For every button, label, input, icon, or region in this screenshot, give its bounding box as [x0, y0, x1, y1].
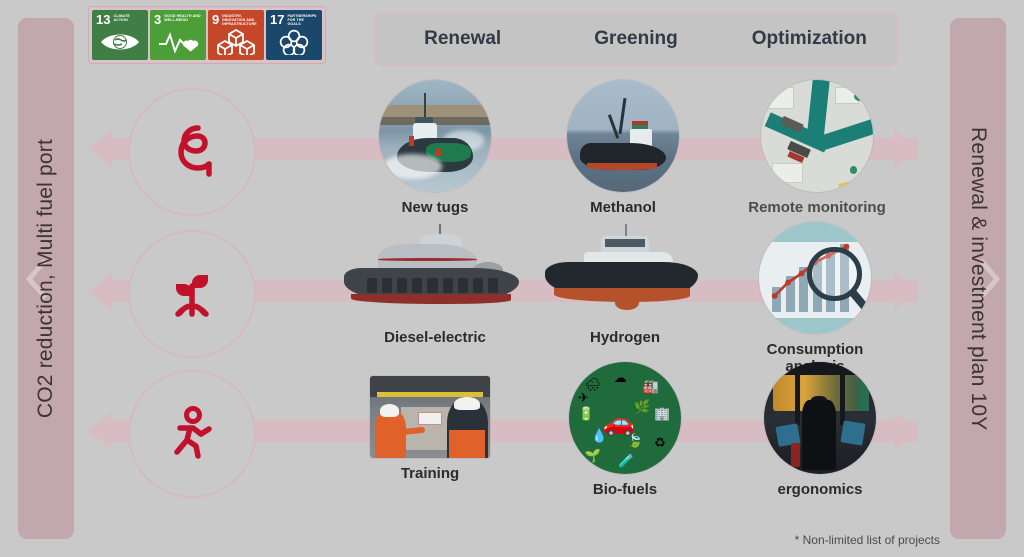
sdg-number: 17 [270, 14, 284, 26]
eye-globe-icon [96, 26, 144, 60]
arrow-head-right-icon [894, 272, 918, 310]
sdg-number: 3 [154, 14, 161, 26]
tugboat-at-sea-photo [379, 80, 491, 192]
sprout-plant-icon [163, 266, 221, 322]
item-label: Remote monitoring [722, 199, 912, 216]
item-remote-monitoring[interactable]: Remote monitoring [722, 80, 912, 216]
dark-tugboat-photo [567, 80, 679, 192]
tab-optimization[interactable]: Optimization [723, 28, 896, 50]
cabin-ergonomics-photo [764, 362, 876, 474]
item-bio-fuels[interactable]: 🌧 ☁ 🏭 🔋 🏢 🌿 💧 🍃 ♻ 🌱 🧪 ✈ 🚗 Bio-fuels [530, 362, 720, 498]
chart-magnifier-icon [759, 222, 871, 334]
item-new-tugs[interactable]: New tugs [340, 80, 530, 216]
sdg-number: 9 [212, 14, 219, 26]
slide-canvas: CO2 reduction, Multi fuel port Renewal &… [0, 0, 1024, 557]
category-icon-circle-3 [128, 370, 256, 498]
swirl-spiral-icon [165, 122, 219, 182]
item-label: Methanol [528, 199, 718, 216]
item-ergonomics[interactable]: ergonomics [725, 362, 915, 498]
footnote: * Non-limited list of projects [795, 533, 940, 547]
item-hydrogen[interactable]: Hydrogen [540, 222, 710, 346]
running-person-icon [166, 406, 218, 462]
row-optimization-track: Training 🌧 ☁ 🏭 🔋 🏢 🌿 💧 🍃 ♻ 🌱 🧪 ✈ � [0, 362, 1024, 512]
item-label: Bio-fuels [530, 481, 720, 498]
item-methanol[interactable]: Methanol [528, 80, 718, 216]
item-label: Diesel-electric [330, 329, 540, 346]
arrow-head-left-icon [88, 412, 112, 450]
sdg-badge-17: 17 PARTNERSHIPS FOR THE GOALS [266, 10, 322, 60]
item-label: New tugs [340, 199, 530, 216]
item-label: Hydrogen [540, 329, 710, 346]
sdg-title: GOOD HEALTH AND WELL-BEING [164, 14, 202, 22]
sdg-badge-13: 13 CLIMATE ACTION [92, 10, 148, 60]
right-panel-label: Renewal & investment plan 10Y [966, 127, 990, 430]
left-panel-label: CO2 reduction, Multi fuel port [34, 139, 58, 418]
row-renewal-track: New tugs Methanol [0, 80, 1024, 230]
tab-renewal[interactable]: Renewal [376, 28, 549, 50]
sdg-title: INDUSTRY, INNOVATION AND INFRASTRUCTURE [222, 14, 260, 26]
circles-ring-icon [270, 26, 318, 60]
tab-greening[interactable]: Greening [549, 28, 722, 50]
arrow-head-left-icon [88, 272, 112, 310]
item-training[interactable]: Training [335, 362, 525, 482]
cubes-icon [212, 26, 260, 60]
category-icon-circle-2 [128, 230, 256, 358]
heartbeat-icon [154, 26, 202, 60]
hydrogen-tug-render [540, 222, 710, 322]
item-label: Training [335, 465, 525, 482]
sdg-title: CLIMATE ACTION [113, 14, 144, 22]
row-greening-track: Diesel-electric Hydrogen [0, 222, 1024, 372]
sdg-badge-3: 3 GOOD HEALTH AND WELL-BEING [150, 10, 206, 60]
bio-fuels-collage-icon: 🌧 ☁ 🏭 🔋 🏢 🌿 💧 🍃 ♻ 🌱 🧪 ✈ 🚗 [569, 362, 681, 474]
sdg-badge-strip: 13 CLIMATE ACTION 3 GOOD HEALTH AND WELL… [88, 6, 326, 64]
aerial-port-map-photo [761, 80, 873, 192]
item-label: ergonomics [725, 481, 915, 498]
arrow-head-left-icon [88, 130, 112, 168]
workers-training-photo [370, 376, 490, 458]
column-header-bar: Renewal Greening Optimization [374, 12, 898, 66]
sdg-number: 13 [96, 14, 110, 26]
item-consumption-analysis[interactable]: Consumption analysis [735, 222, 895, 376]
sdg-title: PARTNERSHIPS FOR THE GOALS [287, 14, 318, 26]
category-icon-circle-1 [128, 88, 256, 216]
diesel-electric-tug-render [340, 222, 530, 322]
item-diesel-electric[interactable]: Diesel-electric [330, 222, 540, 346]
sdg-badge-9: 9 INDUSTRY, INNOVATION AND INFRASTRUCTUR… [208, 10, 264, 60]
